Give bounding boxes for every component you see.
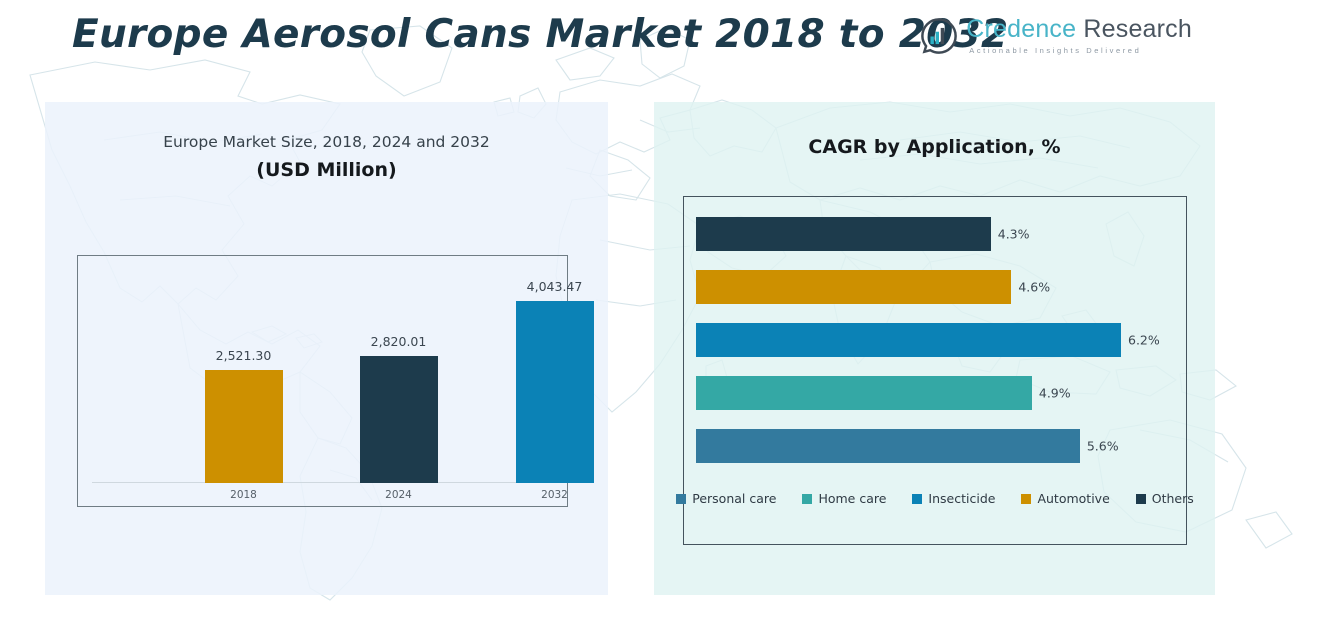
logo-name-primary: Credence bbox=[966, 15, 1076, 43]
left-chart-title: Europe Market Size, 2018, 2024 and 2032 bbox=[45, 133, 608, 151]
market-size-bar: 2,820.012024 bbox=[360, 356, 438, 483]
legend-swatch-icon bbox=[676, 494, 686, 504]
legend-label: Insecticide bbox=[928, 491, 995, 506]
legend-swatch-icon bbox=[1021, 494, 1031, 504]
bar-value-label: 2,820.01 bbox=[371, 334, 427, 349]
bar-category-label: 2032 bbox=[541, 489, 568, 501]
horizontal-bars-area: 4.3%4.6%6.2%4.9%5.6% bbox=[696, 217, 1176, 467]
cagr-bar-row: 4.9% bbox=[696, 376, 1032, 410]
cagr-by-application-chart: 4.3%4.6%6.2%4.9%5.6% Personal careHome c… bbox=[683, 196, 1187, 545]
infographic-root: Europe Aerosol Cans Market 2018 to 2032 … bbox=[0, 0, 1322, 621]
cagr-value-label: 6.2% bbox=[1128, 333, 1160, 348]
legend-item[interactable]: Home care bbox=[802, 491, 886, 506]
cagr-value-label: 4.6% bbox=[1018, 280, 1050, 295]
legend-item[interactable]: Personal care bbox=[676, 491, 776, 506]
header: Europe Aerosol Cans Market 2018 to 2032 … bbox=[0, 0, 1322, 76]
credence-bars-bubble-icon bbox=[920, 17, 958, 55]
x-axis-line bbox=[92, 482, 553, 483]
cagr-bar bbox=[696, 429, 1080, 463]
chart-legend: Personal careHome careInsecticideAutomot… bbox=[684, 491, 1186, 506]
cagr-bar-row: 4.3% bbox=[696, 217, 991, 251]
legend-item[interactable]: Automotive bbox=[1021, 491, 1109, 506]
bar-value-label: 2,521.30 bbox=[216, 348, 272, 363]
cagr-bar-row: 6.2% bbox=[696, 323, 1121, 357]
logo-name-secondary: Research bbox=[1083, 15, 1192, 43]
legend-item[interactable]: Insecticide bbox=[912, 491, 995, 506]
logo-tagline: Actionable Insights Delivered bbox=[969, 47, 1192, 55]
logo-wordmark: Credence Research Actionable Insights De… bbox=[966, 17, 1192, 55]
cagr-bar-row: 4.6% bbox=[696, 270, 1011, 304]
cagr-bar bbox=[696, 270, 1011, 304]
legend-label: Others bbox=[1152, 491, 1194, 506]
legend-item[interactable]: Others bbox=[1136, 491, 1194, 506]
page-title: Europe Aerosol Cans Market 2018 to 2032 bbox=[72, 12, 1008, 57]
cagr-value-label: 4.9% bbox=[1039, 386, 1071, 401]
legend-swatch-icon bbox=[802, 494, 812, 504]
market-size-bar: 4,043.472032 bbox=[516, 301, 594, 483]
legend-swatch-icon bbox=[1136, 494, 1146, 504]
left-chart-subtitle: (USD Million) bbox=[45, 159, 608, 181]
cagr-bar bbox=[696, 323, 1121, 357]
legend-label: Personal care bbox=[692, 491, 776, 506]
legend-label: Home care bbox=[818, 491, 886, 506]
left-chart-heading: Europe Market Size, 2018, 2024 and 2032 … bbox=[45, 133, 608, 181]
cagr-value-label: 4.3% bbox=[998, 227, 1030, 242]
bar-category-label: 2024 bbox=[385, 489, 412, 501]
brand-logo[interactable]: Credence Research Actionable Insights De… bbox=[920, 17, 1192, 55]
cagr-bar bbox=[696, 217, 991, 251]
bar-value-label: 4,043.47 bbox=[527, 279, 583, 294]
market-size-bar: 2,521.302018 bbox=[205, 370, 283, 483]
market-size-bar-chart: 2,521.3020182,820.0120244,043.472032 bbox=[77, 255, 568, 507]
legend-label: Automotive bbox=[1037, 491, 1109, 506]
right-chart-title: CAGR by Application, % bbox=[654, 136, 1215, 158]
cagr-bar bbox=[696, 376, 1032, 410]
cagr-value-label: 5.6% bbox=[1087, 439, 1119, 454]
bar-category-label: 2018 bbox=[230, 489, 257, 501]
legend-swatch-icon bbox=[912, 494, 922, 504]
cagr-bar-row: 5.6% bbox=[696, 429, 1080, 463]
